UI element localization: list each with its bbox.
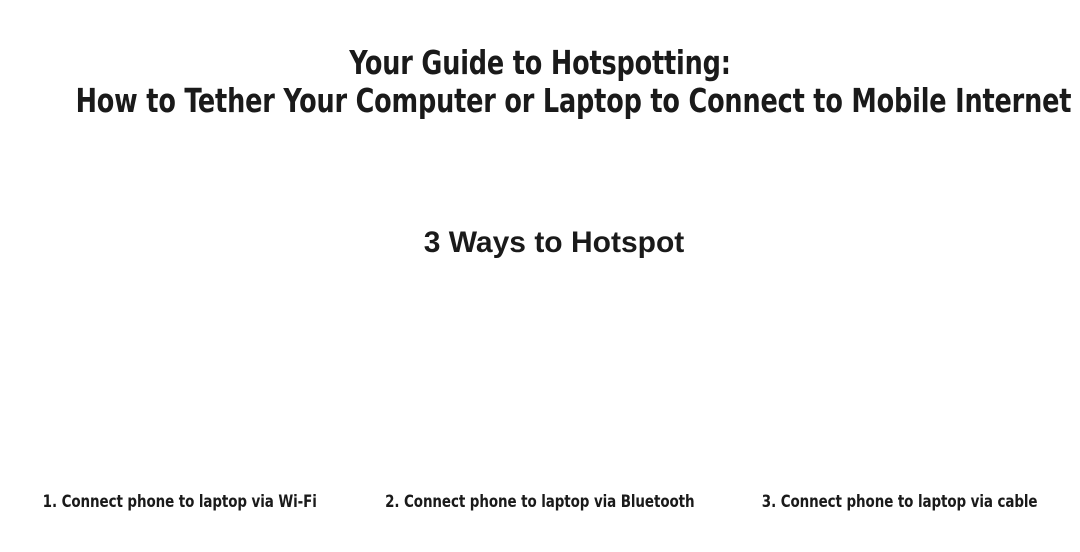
method-illustration-3 bbox=[720, 286, 1080, 472]
method-caption-cell-2: 2. Connect phone to laptop via Bluetooth bbox=[360, 488, 720, 516]
method-illustration-2 bbox=[360, 286, 720, 472]
method-caption-1: 1. Connect phone to laptop via Wi-Fi bbox=[43, 491, 317, 513]
method-caption-cell-1: 1. Connect phone to laptop via Wi-Fi bbox=[0, 488, 360, 516]
method-captions: 1. Connect phone to laptop via Wi-Fi 2. … bbox=[0, 488, 1080, 516]
method-caption-3: 3. Connect phone to laptop via cable bbox=[762, 491, 1038, 513]
article-page: Your Guide to Hotspotting: How to Tether… bbox=[0, 0, 1080, 552]
method-caption-cell-3: 3. Connect phone to laptop via cable bbox=[720, 488, 1080, 516]
page-title: Your Guide to Hotspotting: How to Tether… bbox=[0, 44, 1080, 120]
page-title-line-1: Your Guide to Hotspotting: bbox=[76, 44, 1005, 82]
section-heading: 3 Ways to Hotspot bbox=[0, 224, 1080, 262]
method-caption-2: 2. Connect phone to laptop via Bluetooth bbox=[385, 491, 694, 513]
page-title-line-2: How to Tether Your Computer or Laptop to… bbox=[76, 82, 1005, 120]
method-illustration-1 bbox=[0, 286, 360, 472]
method-illustrations bbox=[0, 286, 1080, 472]
